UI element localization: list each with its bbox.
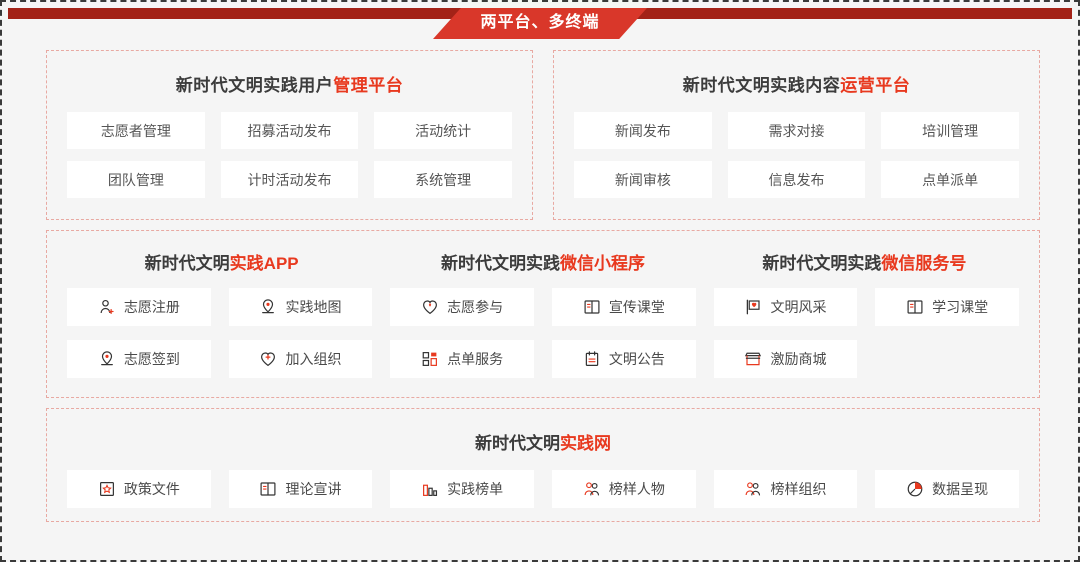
terminal-item-order-service[interactable]: 点单服务 [390, 340, 534, 378]
platforms-section: 新时代文明实践用户管理平台 志愿者管理 招募活动发布 活动统计 团队管理 计时活… [46, 50, 1040, 220]
book-icon [259, 480, 277, 498]
terminal-title-service-account: 新时代文明实践微信服务号 [704, 249, 1025, 274]
calendar-icon [583, 350, 601, 368]
website-items-grid: 政策文件 理论宣讲 实践榜单 [61, 470, 1025, 508]
service-grid-icon [421, 350, 439, 368]
website-item-practice-ranking[interactable]: 实践榜单 [390, 470, 534, 508]
terminal-item-label: 志愿参与 [447, 300, 503, 314]
terminal-item-label: 学习课堂 [932, 300, 988, 314]
platform-button[interactable]: 志愿者管理 [67, 112, 205, 149]
infographic-root: 两平台、多终端 新时代文明实践用户管理平台 志愿者管理 招募活动发布 活动统计 … [0, 0, 1080, 562]
book-icon [583, 298, 601, 316]
website-item-label: 理论宣讲 [285, 482, 341, 496]
ribbon-banner: 两平台、多终端 [433, 8, 647, 39]
website-item-role-model-organization[interactable]: 榜样组织 [714, 470, 858, 508]
flag-heart-icon [744, 298, 762, 316]
terminal-item-promotion-classroom[interactable]: 宣传课堂 [552, 288, 696, 326]
terminal-title-miniprogram: 新时代文明实践微信小程序 [382, 249, 703, 274]
platform-content-buttons: 新闻发布 需求对接 培训管理 新闻审核 信息发布 点单派单 [566, 112, 1027, 198]
terminal-title-service-account-highlight: 微信服务号 [881, 254, 966, 273]
platform-button[interactable]: 系统管理 [374, 161, 512, 198]
two-people-icon [744, 480, 762, 498]
terminal-item-label: 点单服务 [447, 352, 503, 366]
platform-button[interactable]: 需求对接 [728, 112, 866, 149]
terminal-items-grid: 志愿注册 实践地图 志愿参与 [61, 288, 1025, 378]
terminal-item-join-organization[interactable]: 加入组织 [229, 340, 373, 378]
terminal-title-app-highlight: 实践APP [230, 254, 299, 273]
website-item-label: 政策文件 [124, 482, 180, 496]
platform-button[interactable]: 招募活动发布 [221, 112, 359, 149]
terminals-section: 新时代文明实践APP 新时代文明实践微信小程序 新时代文明实践微信服务号 志愿注… [46, 230, 1040, 398]
website-item-label: 榜样组织 [770, 482, 826, 496]
terminal-title-service-account-plain: 新时代文明实践 [762, 254, 881, 273]
website-item-role-model-people[interactable]: 榜样人物 [552, 470, 696, 508]
star-document-icon [98, 480, 116, 498]
terminal-title-app-plain: 新时代文明 [145, 254, 230, 273]
person-plus-icon [98, 298, 116, 316]
terminal-item-study-classroom[interactable]: 学习课堂 [875, 288, 1019, 326]
platform-button[interactable]: 新闻发布 [574, 112, 712, 149]
website-item-label: 榜样人物 [609, 482, 665, 496]
terminal-item-empty-slot [875, 340, 1019, 378]
website-title-plain: 新时代文明 [475, 434, 560, 453]
platform-button[interactable]: 信息发布 [728, 161, 866, 198]
terminal-item-label: 加入组织 [285, 352, 341, 366]
terminal-item-incentive-mall[interactable]: 激励商城 [714, 340, 858, 378]
platform-user-buttons: 志愿者管理 招募活动发布 活动统计 团队管理 计时活动发布 系统管理 [59, 112, 520, 198]
terminal-item-volunteer-participate[interactable]: 志愿参与 [390, 288, 534, 326]
pie-chart-icon [906, 480, 924, 498]
terminal-item-label: 激励商城 [770, 352, 826, 366]
terminal-item-label: 文明公告 [609, 352, 665, 366]
terminal-titles: 新时代文明实践APP 新时代文明实践微信小程序 新时代文明实践微信服务号 [61, 249, 1025, 274]
terminal-item-volunteer-register[interactable]: 志愿注册 [67, 288, 211, 326]
terminal-title-miniprogram-plain: 新时代文明实践 [441, 254, 560, 273]
terminal-item-civilization-style[interactable]: 文明风采 [714, 288, 858, 326]
terminal-item-label: 志愿签到 [124, 352, 180, 366]
website-item-policy-documents[interactable]: 政策文件 [67, 470, 211, 508]
platform-title-user: 新时代文明实践用户管理平台 [59, 71, 520, 96]
terminal-item-label: 宣传课堂 [609, 300, 665, 314]
platform-button[interactable]: 活动统计 [374, 112, 512, 149]
platform-title-user-plain: 新时代文明实践用户 [176, 76, 334, 95]
website-title-highlight: 实践网 [560, 434, 611, 453]
terminal-item-label: 实践地图 [285, 300, 341, 314]
map-pin-icon [259, 298, 277, 316]
shop-icon [744, 350, 762, 368]
terminal-title-miniprogram-highlight: 微信小程序 [560, 254, 645, 273]
platform-title-content-plain: 新时代文明实践内容 [683, 76, 841, 95]
website-title: 新时代文明实践网 [61, 429, 1025, 454]
heart-icon [421, 298, 439, 316]
platform-button[interactable]: 团队管理 [67, 161, 205, 198]
terminal-title-app: 新时代文明实践APP [61, 249, 382, 274]
terminal-item-practice-map[interactable]: 实践地图 [229, 288, 373, 326]
terminal-item-label: 志愿注册 [124, 300, 180, 314]
platform-title-content: 新时代文明实践内容运营平台 [566, 71, 1027, 96]
terminal-item-volunteer-checkin[interactable]: 志愿签到 [67, 340, 211, 378]
platform-button[interactable]: 培训管理 [881, 112, 1019, 149]
terminal-item-label: 文明风采 [770, 300, 826, 314]
platform-title-content-highlight: 运营平台 [840, 76, 910, 95]
platform-title-user-highlight: 管理平台 [333, 76, 403, 95]
map-pin-icon [98, 350, 116, 368]
platform-panel-user: 新时代文明实践用户管理平台 志愿者管理 招募活动发布 活动统计 团队管理 计时活… [46, 50, 533, 220]
website-item-theory-lecture[interactable]: 理论宣讲 [229, 470, 373, 508]
book-icon [906, 298, 924, 316]
platform-button[interactable]: 点单派单 [881, 161, 1019, 198]
website-item-data-presentation[interactable]: 数据呈现 [875, 470, 1019, 508]
website-item-label: 实践榜单 [447, 482, 503, 496]
platform-panel-content: 新时代文明实践内容运营平台 新闻发布 需求对接 培训管理 新闻审核 信息发布 点… [553, 50, 1040, 220]
heart-plus-icon [259, 350, 277, 368]
ribbon-label: 两平台、多终端 [480, 15, 599, 32]
terminal-item-civilization-notice[interactable]: 文明公告 [552, 340, 696, 378]
two-people-icon [583, 480, 601, 498]
website-section: 新时代文明实践网 政策文件 理论宣讲 [46, 408, 1040, 522]
platform-button[interactable]: 计时活动发布 [221, 161, 359, 198]
bar-chart-icon [421, 480, 439, 498]
website-item-label: 数据呈现 [932, 482, 988, 496]
platform-button[interactable]: 新闻审核 [574, 161, 712, 198]
